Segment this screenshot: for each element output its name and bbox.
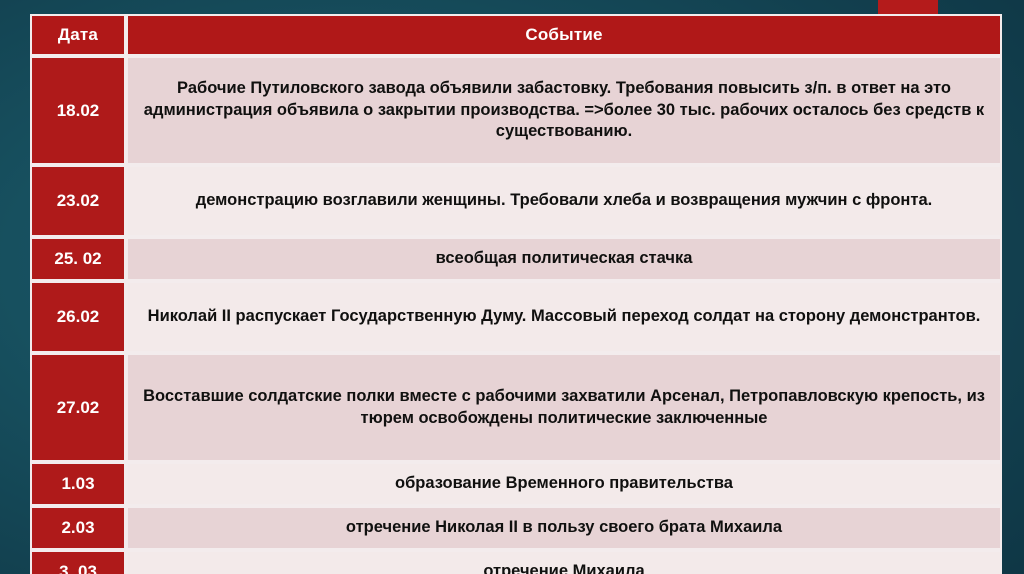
row-date: 25. 02 <box>30 237 126 281</box>
table-row: 23.02 демонстрацию возглавили женщины. Т… <box>30 165 1002 237</box>
row-date: 23.02 <box>30 165 126 237</box>
table-header: Дата Событие <box>30 14 1002 56</box>
row-date: 26.02 <box>30 281 126 353</box>
table-row: 18.02 Рабочие Путиловского завода объяви… <box>30 56 1002 165</box>
event-table-container: Дата Событие 18.02 Рабочие Путиловского … <box>30 14 1002 563</box>
row-event: отречение Николая II в пользу своего бра… <box>126 506 1002 550</box>
row-event: Рабочие Путиловского завода объявили заб… <box>126 56 1002 165</box>
table-row: 1.03 образование Временного правительств… <box>30 462 1002 506</box>
column-header-date: Дата <box>30 14 126 56</box>
row-event: демонстрацию возглавили женщины. Требова… <box>126 165 1002 237</box>
table-row: 27.02 Восставшие солдатские полки вместе… <box>30 353 1002 462</box>
table-header-row: Дата Событие <box>30 14 1002 56</box>
event-table: Дата Событие 18.02 Рабочие Путиловского … <box>30 14 1002 574</box>
row-date: 1.03 <box>30 462 126 506</box>
table-row: 3. 03 отречение Михаила <box>30 550 1002 574</box>
table-row: 26.02 Николай II распускает Государствен… <box>30 281 1002 353</box>
row-date: 18.02 <box>30 56 126 165</box>
row-event: Восставшие солдатские полки вместе с раб… <box>126 353 1002 462</box>
table-row: 25. 02 всеобщая политическая стачка <box>30 237 1002 281</box>
row-event: отречение Михаила <box>126 550 1002 574</box>
row-date: 27.02 <box>30 353 126 462</box>
row-event: образование Временного правительства <box>126 462 1002 506</box>
row-event: всеобщая политическая стачка <box>126 237 1002 281</box>
row-event: Николай II распускает Государственную Ду… <box>126 281 1002 353</box>
row-date: 3. 03 <box>30 550 126 574</box>
table-row: 2.03 отречение Николая II в пользу своег… <box>30 506 1002 550</box>
table-body: 18.02 Рабочие Путиловского завода объяви… <box>30 56 1002 574</box>
column-header-event: Событие <box>126 14 1002 56</box>
slide-canvas: Дата Событие 18.02 Рабочие Путиловского … <box>0 0 1024 574</box>
row-date: 2.03 <box>30 506 126 550</box>
